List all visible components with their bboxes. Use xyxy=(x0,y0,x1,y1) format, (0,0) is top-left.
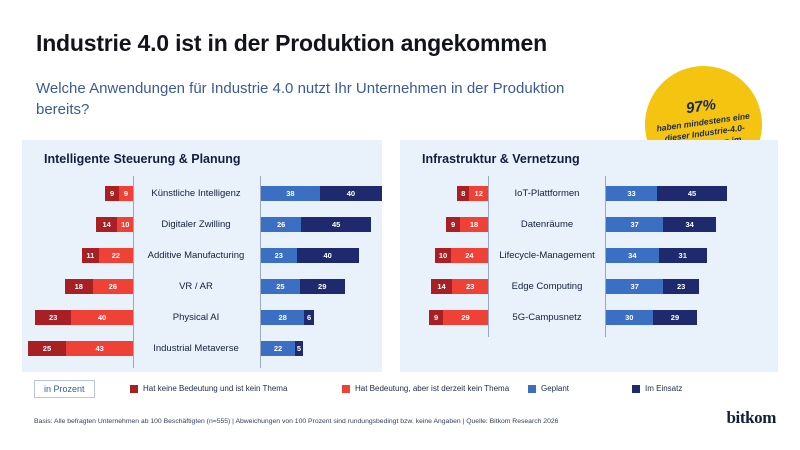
bar-segment: 14 xyxy=(96,217,118,232)
legend-label: Hat keine Bedeutung und ist kein Thema xyxy=(143,384,287,393)
legend-swatch-icon xyxy=(342,385,350,393)
bar-segment: 24 xyxy=(451,248,488,263)
badge-percent-sign: % xyxy=(701,96,717,115)
page-title: Industrie 4.0 ist in der Produktion ange… xyxy=(36,30,547,57)
bar-segment: 18 xyxy=(460,217,488,232)
panel-title: Infrastruktur & Vernetzung xyxy=(422,152,580,166)
axis-line-left xyxy=(133,176,134,368)
bar-positive: 2529 xyxy=(261,279,345,294)
row-label: Physical AI xyxy=(137,312,255,323)
bar-negative: 1410 xyxy=(96,217,133,232)
bar-positive: 3345 xyxy=(606,186,727,201)
panel-title: Intelligente Steuerung & Planung xyxy=(44,152,241,166)
page-subtitle: Welche Anwendungen für Industrie 4.0 nut… xyxy=(36,78,611,120)
legend-item: Geplant xyxy=(528,384,569,393)
bar-segment: 45 xyxy=(657,186,727,201)
row-label: Additive Manufacturing xyxy=(137,250,255,261)
bar-negative: 2543 xyxy=(28,341,133,356)
legend-swatch-icon xyxy=(632,385,640,393)
infographic-page: Industrie 4.0 ist in der Produktion ange… xyxy=(0,0,800,450)
row-label: Datenräume xyxy=(492,219,602,230)
source-note: Basis: Alle befragten Unternehmen ab 100… xyxy=(34,418,558,425)
row-label: Lifecycle-Management xyxy=(492,250,602,261)
bar-segment: 34 xyxy=(663,217,716,232)
legend-label: Im Einsatz xyxy=(645,384,682,393)
legend-swatch-icon xyxy=(130,385,138,393)
legend-item: Hat Bedeutung, aber ist derzeit kein The… xyxy=(342,384,509,393)
chart-legend: in Prozent Hat keine Bedeutung und ist k… xyxy=(22,378,778,404)
bar-positive: 286 xyxy=(261,310,314,325)
row-label: Edge Computing xyxy=(492,281,602,292)
legend-swatch-icon xyxy=(528,385,536,393)
bar-segment: 18 xyxy=(65,279,93,294)
bar-segment: 28 xyxy=(261,310,304,325)
row-label: Digitaler Zwilling xyxy=(137,219,255,230)
bar-positive: 3840 xyxy=(261,186,382,201)
bar-segment: 23 xyxy=(663,279,699,294)
bar-positive: 3723 xyxy=(606,279,699,294)
row-label: 5G-Campusnetz xyxy=(492,312,602,323)
bar-negative: 1423 xyxy=(431,279,488,294)
bar-segment: 33 xyxy=(606,186,657,201)
bar-positive: 3029 xyxy=(606,310,697,325)
bar-negative: 929 xyxy=(429,310,488,325)
bar-segment: 37 xyxy=(606,217,663,232)
bar-segment: 9 xyxy=(105,186,119,201)
bar-segment: 40 xyxy=(297,248,359,263)
bar-segment: 11 xyxy=(82,248,99,263)
bitkom-logo: bitkom xyxy=(726,408,776,428)
bar-segment: 8 xyxy=(457,186,469,201)
bar-segment: 26 xyxy=(261,217,301,232)
bar-segment: 29 xyxy=(300,279,345,294)
legend-label: Hat Bedeutung, aber ist derzeit kein The… xyxy=(355,384,509,393)
legend-label: Geplant xyxy=(541,384,569,393)
bar-segment: 12 xyxy=(469,186,488,201)
bar-negative: 918 xyxy=(446,217,488,232)
axis-line-left xyxy=(488,176,489,337)
bar-segment: 10 xyxy=(435,248,451,263)
bar-segment: 6 xyxy=(304,310,313,325)
bar-positive: 225 xyxy=(261,341,303,356)
row-label: VR / AR xyxy=(137,281,255,292)
bar-segment: 34 xyxy=(606,248,659,263)
legend-item: Hat keine Bedeutung und ist kein Thema xyxy=(130,384,287,393)
bar-segment: 45 xyxy=(301,217,371,232)
chart-panel-left: Intelligente Steuerung & Planung 993840K… xyxy=(22,140,382,372)
bar-segment: 23 xyxy=(35,310,71,325)
bar-positive: 3431 xyxy=(606,248,707,263)
bar-negative: 1024 xyxy=(435,248,488,263)
bar-segment: 9 xyxy=(119,186,133,201)
chart-panel-right: Infrastruktur & Vernetzung 8123345IoT-Pl… xyxy=(400,140,778,372)
bar-segment: 37 xyxy=(606,279,663,294)
bar-segment: 29 xyxy=(443,310,488,325)
legend-item: Im Einsatz xyxy=(632,384,682,393)
bar-segment: 40 xyxy=(71,310,133,325)
row-label: Industrial Metaverse xyxy=(137,343,255,354)
bar-segment: 23 xyxy=(452,279,488,294)
bar-negative: 812 xyxy=(457,186,488,201)
bar-segment: 23 xyxy=(261,248,297,263)
bar-segment: 31 xyxy=(659,248,707,263)
bar-segment: 9 xyxy=(429,310,443,325)
badge-value: 97% xyxy=(684,87,717,117)
bar-negative: 2340 xyxy=(35,310,133,325)
bar-positive: 2645 xyxy=(261,217,371,232)
bar-segment: 25 xyxy=(261,279,300,294)
bar-segment: 29 xyxy=(653,310,698,325)
bar-negative: 1122 xyxy=(82,248,133,263)
bar-negative: 1826 xyxy=(65,279,133,294)
unit-label: in Prozent xyxy=(34,380,95,398)
bar-segment: 38 xyxy=(261,186,320,201)
axis-line-right xyxy=(260,176,261,368)
row-label: Künstliche Intelligenz xyxy=(137,188,255,199)
bar-segment: 22 xyxy=(261,341,295,356)
bar-positive: 2340 xyxy=(261,248,359,263)
bar-segment: 22 xyxy=(99,248,133,263)
bar-positive: 3734 xyxy=(606,217,716,232)
bar-segment: 9 xyxy=(446,217,460,232)
bar-segment: 30 xyxy=(606,310,653,325)
bar-segment: 14 xyxy=(431,279,453,294)
bar-segment: 26 xyxy=(93,279,133,294)
bar-segment: 10 xyxy=(117,217,133,232)
row-label: IoT-Plattformen xyxy=(492,188,602,199)
bar-negative: 99 xyxy=(105,186,133,201)
bar-segment: 43 xyxy=(66,341,133,356)
bar-segment: 40 xyxy=(320,186,382,201)
bar-segment: 25 xyxy=(28,341,67,356)
bar-segment: 5 xyxy=(295,341,303,356)
